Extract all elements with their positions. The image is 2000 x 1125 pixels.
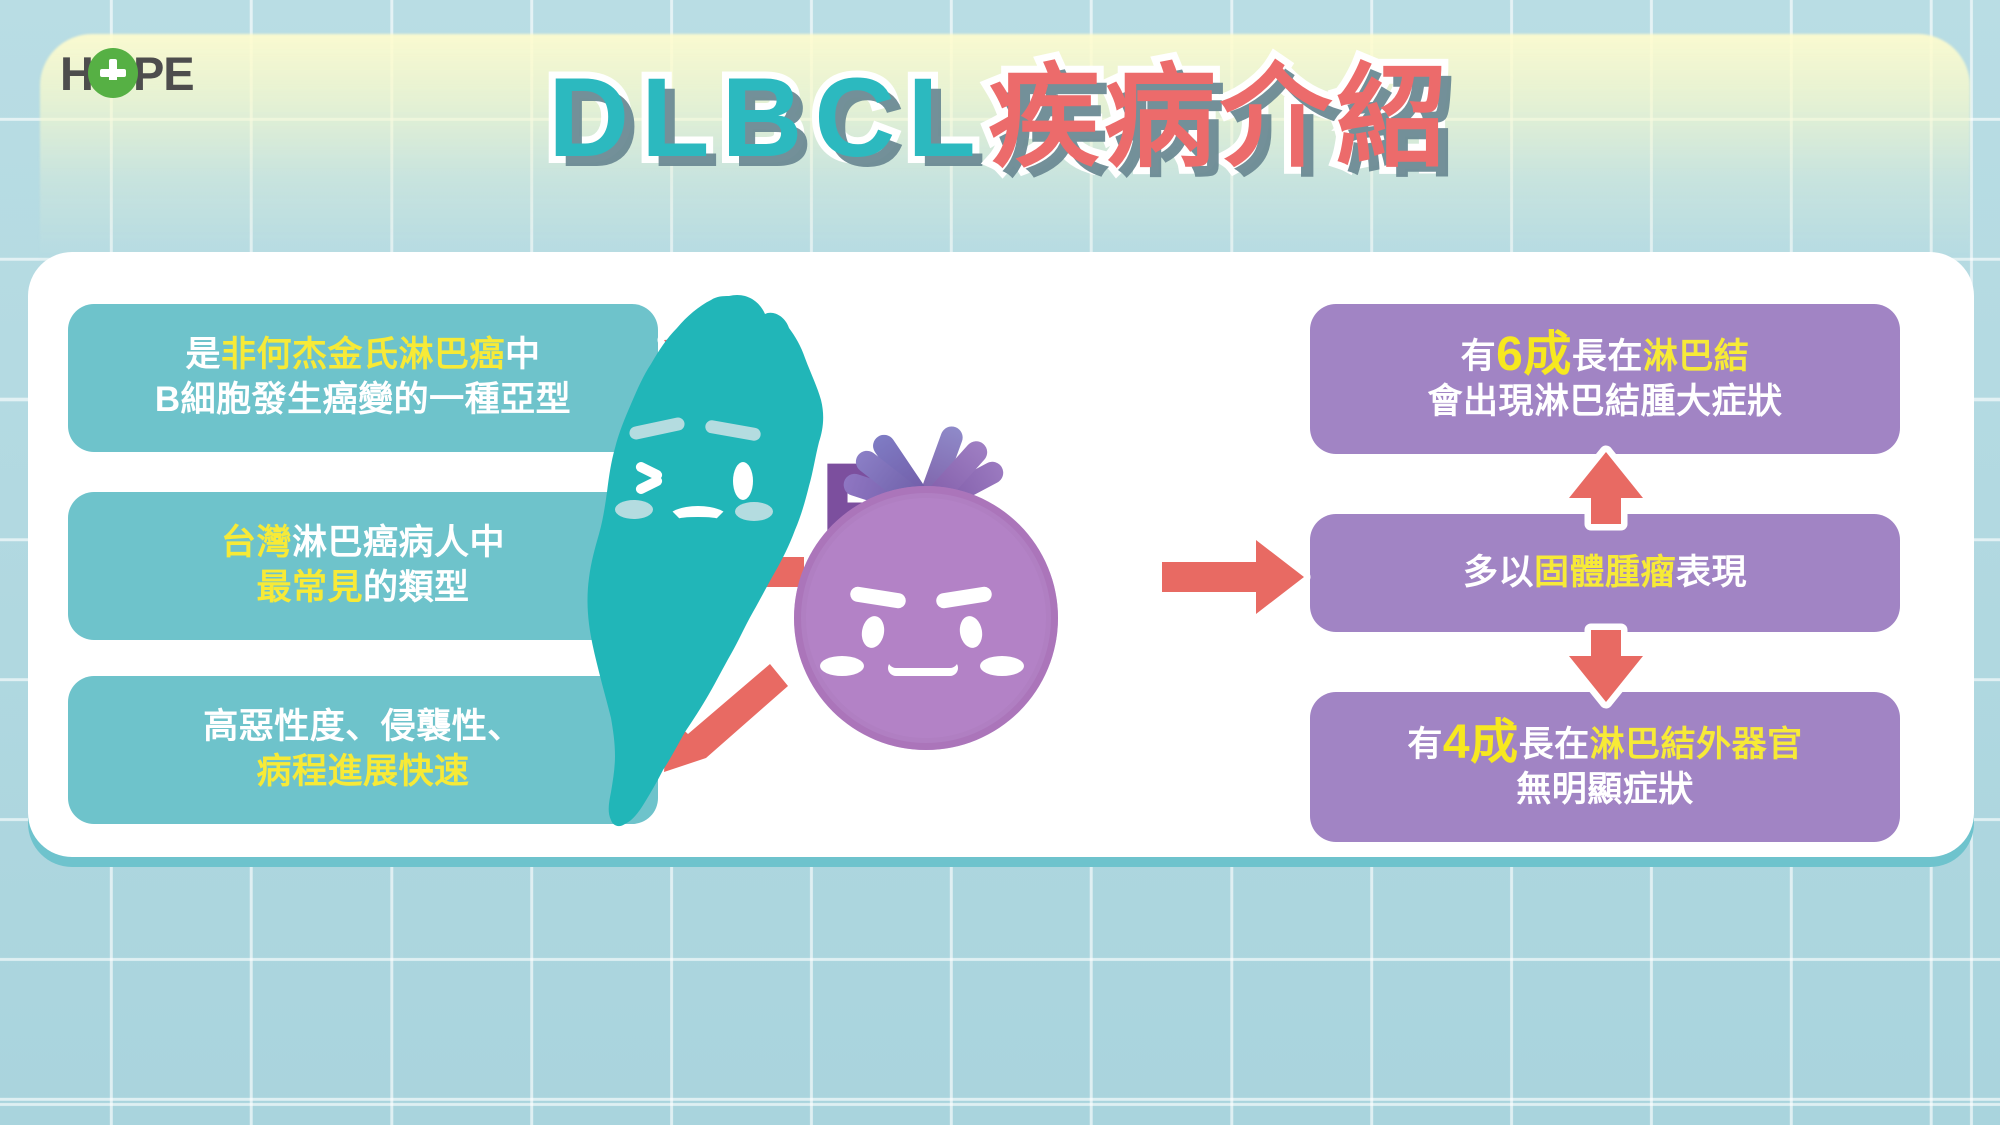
info-box-text: 有6成長在淋巴結會出現淋巴結腫大症狀 bbox=[1427, 333, 1782, 425]
info-box-right-3[interactable]: 有4成長在淋巴結外器官無明顯症狀 bbox=[1310, 692, 1900, 842]
info-box-text: 有4成長在淋巴結外器官無明顯症狀 bbox=[1407, 721, 1802, 813]
info-box-text: 是非何杰金氏淋巴癌中B細胞發生癌變的一種亞型 bbox=[155, 333, 571, 423]
highlight-text: 6成 bbox=[1496, 328, 1572, 381]
info-box-right-2[interactable]: 多以固體腫瘤表現 bbox=[1310, 514, 1900, 632]
info-box-line: 最常見的類型 bbox=[221, 566, 505, 611]
virus-eye-right bbox=[957, 614, 984, 649]
map-mouth-frown bbox=[667, 506, 729, 532]
info-box-line: 台灣淋巴癌病人中 bbox=[221, 521, 505, 566]
page-title: DLBCL疾病介紹 bbox=[0, 62, 2000, 174]
highlight-text: 病程進展快速 bbox=[256, 752, 469, 791]
virus-blush-left bbox=[820, 656, 864, 676]
virus-character bbox=[746, 438, 1106, 798]
virus-eyebrow-right bbox=[935, 586, 993, 610]
plain-text: 長在 bbox=[1519, 725, 1590, 764]
info-box-line: 病程進展快速 bbox=[203, 750, 523, 795]
plain-text: 淋巴癌病人中 bbox=[292, 523, 505, 562]
plain-text: 是 bbox=[185, 335, 221, 374]
info-box-line: 多以固體腫瘤表現 bbox=[1463, 551, 1747, 596]
plain-text: 無明顯症狀 bbox=[1516, 770, 1694, 809]
info-box-line: 會出現淋巴結腫大症狀 bbox=[1427, 380, 1782, 425]
info-box-text: 多以固體腫瘤表現 bbox=[1463, 551, 1747, 596]
map-blush-left bbox=[615, 500, 653, 519]
highlight-text: 4成 bbox=[1443, 716, 1519, 769]
arrow-right-icon bbox=[1158, 532, 1308, 622]
info-box-line: 無明顯症狀 bbox=[1407, 768, 1802, 813]
plain-text: 高惡性度、侵襲性、 bbox=[203, 707, 523, 746]
info-box-right-1[interactable]: 有6成長在淋巴結會出現淋巴結腫大症狀 bbox=[1310, 304, 1900, 454]
info-box-line: 有6成長在淋巴結 bbox=[1427, 333, 1782, 380]
title-chinese: 疾病介紹 bbox=[988, 55, 1452, 180]
title-english: DLBCL bbox=[548, 55, 987, 180]
infographic-poster: H PE DLBCL疾病介紹 是非何杰金氏淋巴癌中B細胞發生癌變的一種亞型 台灣… bbox=[0, 0, 2000, 1125]
virus-blush-right bbox=[980, 656, 1024, 676]
highlight-text: 最常見 bbox=[256, 568, 363, 607]
plain-text: 表現 bbox=[1676, 553, 1747, 592]
plain-text: 的類型 bbox=[363, 568, 470, 607]
highlight-text: 非何杰金氏淋巴癌 bbox=[221, 335, 505, 374]
highlight-text: 固體腫瘤 bbox=[1534, 553, 1676, 592]
virus-eye-left bbox=[859, 614, 886, 649]
plain-text: 會出現淋巴結腫大症狀 bbox=[1427, 382, 1782, 421]
info-box-line: B細胞發生癌變的一種亞型 bbox=[155, 378, 571, 423]
plain-text: 有 bbox=[1407, 725, 1443, 764]
arrow-down-icon bbox=[1561, 626, 1651, 706]
plain-text: B細胞發生癌變的一種亞型 bbox=[155, 380, 571, 419]
info-box-line: 是非何杰金氏淋巴癌中 bbox=[155, 333, 571, 378]
highlight-text: 淋巴結 bbox=[1643, 337, 1750, 376]
virus-mouth bbox=[888, 660, 958, 676]
highlight-text: 淋巴結外器官 bbox=[1590, 725, 1803, 764]
info-box-line: 有4成長在淋巴結外器官 bbox=[1407, 721, 1802, 768]
info-box-line: 高惡性度、侵襲性、 bbox=[203, 705, 523, 750]
highlight-text: 台灣 bbox=[221, 523, 292, 562]
arrow-up-icon bbox=[1561, 448, 1651, 528]
info-box-text: 高惡性度、侵襲性、病程進展快速 bbox=[203, 705, 523, 795]
virus-eyebrow-left bbox=[849, 586, 907, 610]
plain-text: 有 bbox=[1461, 337, 1497, 376]
content-panel-inner: 是非何杰金氏淋巴癌中B細胞發生癌變的一種亞型 台灣淋巴癌病人中最常見的類型 高惡… bbox=[28, 252, 1974, 857]
info-box-text: 台灣淋巴癌病人中最常見的類型 bbox=[221, 521, 505, 611]
plain-text: 長在 bbox=[1572, 337, 1643, 376]
plain-text: 多以 bbox=[1463, 553, 1534, 592]
map-eye-squint-left bbox=[635, 462, 669, 496]
